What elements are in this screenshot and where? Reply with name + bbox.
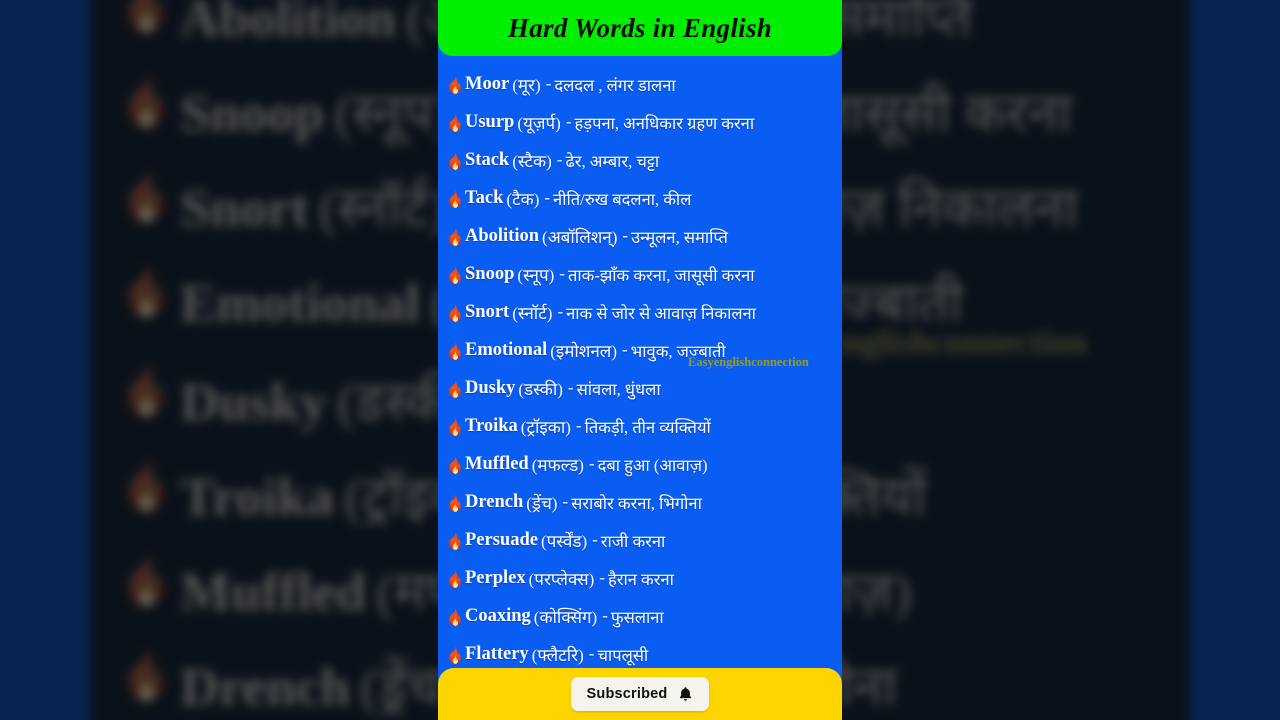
word-meaning: भावुक, जज्बाती xyxy=(631,339,726,362)
word-meaning: दबा हुआ (आवाज़) xyxy=(598,453,708,476)
fire-icon xyxy=(446,266,463,285)
fire-icon xyxy=(118,647,170,705)
word-english: Abolition xyxy=(465,226,539,247)
word-separator: - xyxy=(546,74,552,94)
fire-icon xyxy=(446,608,463,627)
bell-icon xyxy=(678,686,693,703)
word-english: Stack xyxy=(465,150,509,171)
word-separator: - xyxy=(557,150,563,170)
backdrop-word-text: Muffled xyxy=(180,561,366,623)
word-english: Dusky xyxy=(465,378,515,399)
word-meaning: सांवला, धुंधला xyxy=(577,377,661,400)
fire-icon xyxy=(118,168,170,226)
word-meaning: तिकड़ी, तीन व्यक्तियों xyxy=(585,415,711,438)
word-separator: - xyxy=(592,530,598,550)
word-meaning: हैरान करना xyxy=(608,567,674,590)
word-english: Perplex xyxy=(465,568,526,589)
word-separator: - xyxy=(568,378,574,398)
word-transliteration: (यूज़र्प) xyxy=(517,111,560,134)
word-meaning: ढेर, अम्बार, चट्टा xyxy=(565,149,659,172)
word-separator: - xyxy=(559,264,565,284)
word-english: Muffled xyxy=(465,454,529,475)
word-row: Stack(स्टैक)-ढेर, अम्बार, चट्टा xyxy=(446,141,842,179)
word-row: Persuade(पर्स्वेंड)-राजी करना xyxy=(446,521,842,559)
backdrop-word-text: Abolition xyxy=(180,0,396,49)
word-transliteration: (ड्रेंच) xyxy=(526,491,557,514)
backdrop-word-text: Snort xyxy=(180,177,309,239)
word-english: Tack xyxy=(465,188,503,209)
word-english: Troika xyxy=(465,416,518,437)
word-transliteration: (स्नूप) xyxy=(517,263,554,286)
fire-icon xyxy=(118,552,170,610)
fire-icon xyxy=(118,362,170,420)
word-separator: - xyxy=(599,568,605,588)
word-transliteration: (स्टैक) xyxy=(512,149,552,172)
word-separator: - xyxy=(602,606,608,626)
word-row: Perplex(परप्लेक्स)-हैरान करना xyxy=(446,559,842,597)
word-row: Dusky(डस्की)-सांवला, धुंधला xyxy=(446,369,842,407)
word-separator: - xyxy=(562,492,568,512)
fire-icon xyxy=(446,494,463,513)
word-transliteration: (फ्लैटरि) xyxy=(532,643,584,666)
word-transliteration: (अबॉलिशन्) xyxy=(542,225,617,248)
word-meaning: फुसलाना xyxy=(611,605,664,628)
fire-icon xyxy=(446,342,463,361)
word-separator: - xyxy=(622,340,628,360)
word-separator: - xyxy=(576,416,582,436)
word-separator: - xyxy=(589,454,595,474)
fire-icon xyxy=(446,114,463,133)
word-transliteration: (टैक) xyxy=(506,187,539,210)
word-row: Snoop(स्नूप)-ताक-झाँक करना, जासूसी करना xyxy=(446,255,842,293)
content-panel: Hard Words in English Moor(मूर)-दलदल , ल… xyxy=(438,0,842,720)
fire-icon xyxy=(446,190,463,209)
fire-icon xyxy=(446,152,463,171)
backdrop-word-text: Emotional xyxy=(180,272,420,334)
word-meaning: हड़पना, अनधिकार ग्रहण करना xyxy=(574,111,754,134)
word-meaning: उन्मूलन, समाप्ति xyxy=(631,225,728,248)
word-row: Snort(स्नॉर्ट)-नाक से जोर से आवाज़ निकाल… xyxy=(446,293,842,331)
word-english: Snoop xyxy=(465,264,514,285)
word-transliteration: (डस्की) xyxy=(518,377,563,400)
word-meaning: नाक से जोर से आवाज़ निकालना xyxy=(566,301,756,324)
word-english: Flattery xyxy=(465,644,529,665)
title-bar: Hard Words in English xyxy=(438,0,842,56)
word-row: Emotional(इमोशनल)-भावुक, जज्बाती xyxy=(446,331,842,369)
word-english: Coaxing xyxy=(465,606,531,627)
word-row: Troika(ट्रॉइका)-तिकड़ी, तीन व्यक्तियों xyxy=(446,407,842,445)
fire-icon xyxy=(118,0,170,36)
word-english: Persuade xyxy=(465,530,538,551)
backdrop-word-transliteration: (स्नॉर्ट) xyxy=(319,168,447,242)
word-meaning: ताक-झाँक करना, जासूसी करना xyxy=(568,263,755,286)
word-separator: - xyxy=(589,644,595,664)
word-meaning: दलदल , लंगर डालना xyxy=(554,73,675,96)
word-separator: - xyxy=(566,112,572,132)
backdrop-word-text: Dusky xyxy=(180,371,327,433)
video-frame: Hard Words in English Moor(मूर)दलदल , लं… xyxy=(0,0,1280,720)
fire-icon xyxy=(446,570,463,589)
fire-icon xyxy=(446,228,463,247)
word-english: Moor xyxy=(465,74,509,95)
bottom-bar: Subscribed xyxy=(438,668,842,720)
backdrop-word-transliteration: (स्नूप) xyxy=(334,73,451,147)
fire-icon xyxy=(446,456,463,475)
backdrop-word-text: Drench xyxy=(180,656,350,718)
subscribed-button[interactable]: Subscribed xyxy=(571,677,710,711)
word-english: Emotional xyxy=(465,340,547,361)
fire-icon xyxy=(118,73,170,131)
word-transliteration: (पर्स्वेंड) xyxy=(541,529,587,552)
word-english: Usurp xyxy=(465,112,514,133)
word-separator: - xyxy=(557,302,563,322)
fire-icon xyxy=(446,304,463,323)
word-transliteration: (मफल्ड) xyxy=(532,453,584,476)
word-list: Moor(मूर)-दलदल , लंगर डालनाUsurp(यूज़र्प… xyxy=(438,56,842,673)
word-meaning: चापलूसी xyxy=(597,643,648,666)
word-meaning: राजी करना xyxy=(601,529,666,552)
backdrop-word-text: Snoop xyxy=(180,82,324,144)
fire-icon xyxy=(446,646,463,665)
word-row: Abolition(अबॉलिशन्)-उन्मूलन, समाप्ति xyxy=(446,217,842,255)
fire-icon xyxy=(446,76,463,95)
fire-icon xyxy=(118,457,170,515)
word-transliteration: (मूर) xyxy=(512,73,540,96)
word-transliteration: (परप्लेक्स) xyxy=(529,567,595,590)
word-transliteration: (स्नॉर्ट) xyxy=(512,301,552,324)
word-row: Coaxing(कोक्सिंग)-फुसलाना xyxy=(446,597,842,635)
word-english: Drench xyxy=(465,492,523,513)
word-meaning: नीति/रुख बदलना, कील xyxy=(553,187,691,210)
backdrop-word-text: Troika xyxy=(180,466,334,528)
word-transliteration: (कोक्सिंग) xyxy=(534,605,597,628)
word-row: Muffled(मफल्ड)-दबा हुआ (आवाज़) xyxy=(446,445,842,483)
page-title: Hard Words in English xyxy=(508,13,772,44)
word-row: Drench(ड्रेंच)-सराबोर करना, भिगोना xyxy=(446,483,842,521)
word-separator: - xyxy=(622,226,628,246)
word-english: Snort xyxy=(465,302,509,323)
fire-icon xyxy=(118,263,170,321)
subscribed-label: Subscribed xyxy=(587,686,668,702)
word-row: Moor(मूर)-दलदल , लंगर डालना xyxy=(446,65,842,103)
fire-icon xyxy=(446,532,463,551)
fire-icon xyxy=(446,380,463,399)
word-row: Usurp(यूज़र्प)-हड़पना, अनधिकार ग्रहण करन… xyxy=(446,103,842,141)
fire-icon xyxy=(446,418,463,437)
word-transliteration: (इमोशनल) xyxy=(550,339,617,362)
word-meaning: सराबोर करना, भिगोना xyxy=(571,491,702,514)
word-row: Tack(टैक)-नीति/रुख बदलना, कील xyxy=(446,179,842,217)
word-transliteration: (ट्रॉइका) xyxy=(521,415,571,438)
word-separator: - xyxy=(544,188,550,208)
